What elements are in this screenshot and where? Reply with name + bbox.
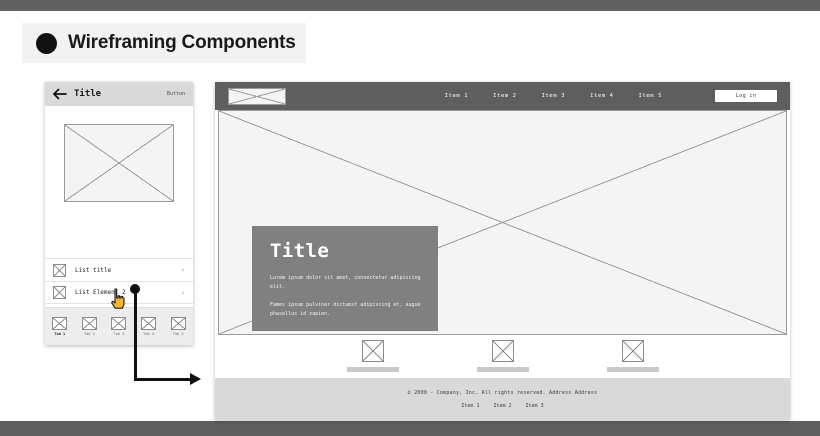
bottom-chrome-bar (0, 421, 820, 436)
tab-label: Tab 3 (114, 332, 125, 336)
hero-title: Title (270, 242, 422, 261)
image-placeholder-icon (52, 317, 67, 330)
nav-item-5[interactable]: Item 5 (639, 93, 662, 99)
tab-1[interactable]: Tab 1 (52, 317, 67, 336)
footer-link-1[interactable]: Item 1 (461, 403, 479, 409)
tab-3[interactable]: Tab 3 (111, 317, 126, 336)
hand-pointer-cursor (108, 288, 128, 310)
image-placeholder-icon (111, 317, 126, 330)
footer-copyright: © 2000 - Company, Inc. All rights reserv… (408, 390, 597, 396)
chevron-right-icon: › (181, 289, 185, 297)
page-title: Wireframing Components (68, 32, 296, 54)
arrow-left-icon[interactable] (53, 88, 67, 100)
hero-content-card: Title Lorem ipsum dolor sit amet, consec… (252, 226, 438, 331)
nav-item-4[interactable]: Item 4 (590, 93, 613, 99)
image-placeholder-icon (53, 286, 66, 299)
image-placeholder-icon (492, 340, 514, 362)
mobile-title: Title (74, 89, 101, 99)
mobile-action-button[interactable]: Button (167, 91, 185, 97)
arrow-right-icon (190, 373, 201, 385)
tab-label: Tab 5 (173, 332, 184, 336)
nav-item-1[interactable]: Item 1 (445, 93, 468, 99)
tab-label: Tab 1 (54, 332, 65, 336)
image-placeholder-icon (64, 124, 174, 202)
mobile-tab-bar: Tab 1 Tab 2 Tab 3 Tab 4 Tab 5 (45, 307, 193, 345)
image-placeholder-icon (53, 264, 66, 277)
footer-link-2[interactable]: Item 2 (493, 403, 511, 409)
desktop-hero-section: Title Lorem ipsum dolor sit amet, consec… (218, 110, 787, 335)
image-placeholder-icon (141, 317, 156, 330)
nav-item-2[interactable]: Item 2 (493, 93, 516, 99)
logo-placeholder-icon[interactable] (228, 88, 286, 105)
feature-text-bar (607, 367, 659, 372)
image-placeholder-icon (362, 340, 384, 362)
tab-label: Tab 2 (84, 332, 95, 336)
feature-text-bar (477, 367, 529, 372)
feature-item-1 (347, 340, 399, 372)
filled-circle-icon (36, 33, 57, 54)
image-placeholder-icon (82, 317, 97, 330)
image-placeholder-icon (622, 340, 644, 362)
desktop-nav-items: Item 1 Item 2 Item 3 Item 4 Item 5 Log i… (445, 90, 777, 102)
feature-item-3 (607, 340, 659, 372)
login-button[interactable]: Log in (715, 90, 777, 102)
list-item-label: List title (75, 267, 111, 274)
hero-paragraph-1: Lorem ipsum dolor sit amet, consectetur … (270, 274, 422, 293)
desktop-feature-row (215, 335, 790, 378)
top-chrome-bar (0, 0, 820, 11)
mobile-app-bar: Title Button (45, 82, 193, 106)
image-placeholder-icon (171, 317, 186, 330)
desktop-wireframe: Item 1 Item 2 Item 3 Item 4 Item 5 Log i… (215, 82, 790, 420)
feature-text-bar (347, 367, 399, 372)
login-button-label: Log in (736, 93, 756, 99)
tab-label: Tab 4 (143, 332, 154, 336)
tab-5[interactable]: Tab 5 (171, 317, 186, 336)
footer-links: Item 1 Item 2 Item 3 (461, 403, 543, 409)
hero-paragraph-2: Fames ipsum pulvinar dictumst adipiscing… (270, 301, 422, 320)
list-item[interactable]: List title › (45, 258, 193, 281)
tab-4[interactable]: Tab 4 (141, 317, 156, 336)
footer-link-3[interactable]: Item 3 (526, 403, 544, 409)
page-title-banner: Wireframing Components (22, 23, 306, 63)
chevron-right-icon: › (181, 266, 185, 274)
connector-line-vertical (134, 291, 137, 380)
connector-line-horizontal (134, 378, 192, 381)
desktop-footer: © 2000 - Company, Inc. All rights reserv… (215, 378, 790, 420)
nav-item-3[interactable]: Item 3 (542, 93, 565, 99)
feature-item-2 (477, 340, 529, 372)
desktop-nav-bar: Item 1 Item 2 Item 3 Item 4 Item 5 Log i… (215, 82, 790, 110)
tab-2[interactable]: Tab 2 (82, 317, 97, 336)
